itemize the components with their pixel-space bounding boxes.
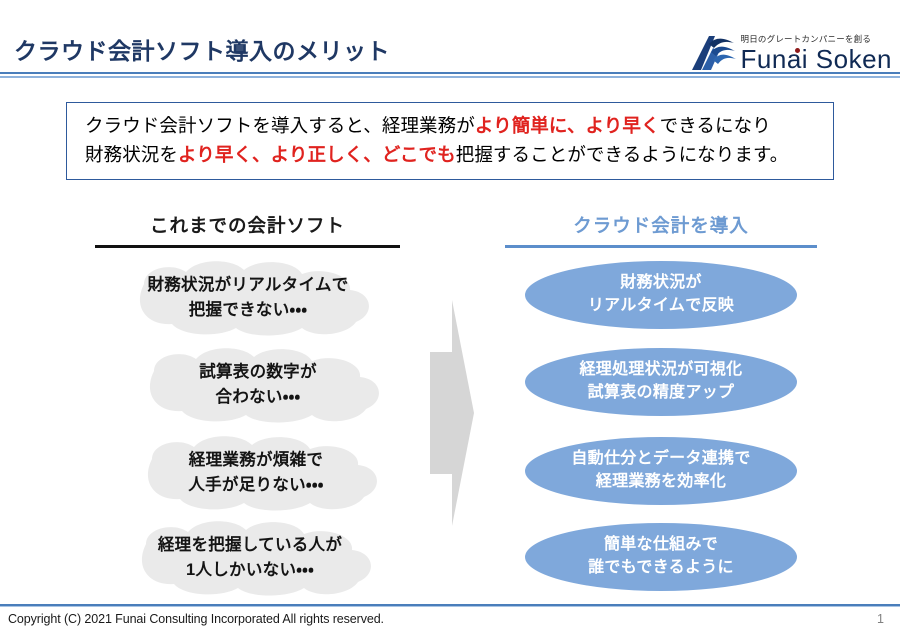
column-header-legacy: これまでの会計ソフト xyxy=(95,212,400,248)
benefit-line-2-highlight: リアルタイム xyxy=(588,297,685,314)
benefit-line-2: 経理業務を効率化 xyxy=(596,472,726,493)
brand-logo: 明日のグレートカンパニーを創る Funai Soken xyxy=(689,28,892,72)
page-title: クラウド会計ソフト導入のメリット xyxy=(14,32,390,66)
lead-line-2-part-a: 財務状況を xyxy=(85,144,178,165)
lead-line-1-part-c: できるになり xyxy=(660,115,771,136)
pain-point-line-1: 経理を把握している人が xyxy=(158,535,342,556)
header-divider xyxy=(0,72,900,78)
benefit-line-2-head: 経理業務を xyxy=(596,473,678,490)
lead-line-2: 財務状況をより早く、より正しく、どこでも把握することができるようになります。 xyxy=(85,141,815,170)
pain-point-text: 財務状況がリアルタイムで 把握できない・・・ xyxy=(98,258,398,338)
pain-point-text: 経理を把握している人が 1人しかいない・・・ xyxy=(100,518,400,598)
pain-point-line-1: 試算表の数字が xyxy=(199,362,317,383)
benefit-line-1: 自動仕分とデータ連携で xyxy=(571,449,750,470)
logo-wordmark-text: Funai Soken xyxy=(741,44,892,74)
benefit-line-1: 経理処理状況が可視化 xyxy=(579,360,742,381)
pain-point-line-2: 1人しかいない・・・ xyxy=(186,560,314,581)
benefit-ellipse: 自動仕分とデータ連携で 経理業務を効率化 xyxy=(525,437,797,505)
pain-point-bubble: 経理を把握している人が 1人しかいない・・・ xyxy=(100,518,400,598)
pain-point-line-1: 財務状況がリアルタイムで xyxy=(147,275,348,296)
benefit-ellipse: 財務状況が リアルタイムで反映 xyxy=(525,261,797,329)
lead-message-box: クラウド会計ソフトを導入すると、経理業務がより簡単に、より早くできるになり 財務… xyxy=(66,102,834,180)
pain-point-text: 経理業務が煩雑で 人手が足りない・・・ xyxy=(106,433,406,513)
benefit-ellipse: 簡単な仕組みで 誰でもできるように xyxy=(525,523,797,591)
pain-point-line-2: 把握できない・・・ xyxy=(189,300,308,321)
lead-line-1-part-a: クラウド会計ソフトを導入すると、経理業務が xyxy=(85,115,475,136)
column-header-cloud-rule xyxy=(505,245,817,248)
lead-line-2-highlight: より早く、より正しく、どこでも xyxy=(178,144,456,165)
benefit-line-2-tail: でもできるように xyxy=(604,559,733,576)
benefit-line-1: 簡単な仕組みで xyxy=(604,535,718,556)
benefit-line-2-highlight: 精度アップ xyxy=(653,384,735,401)
pain-point-line-1: 経理業務が煩雑で xyxy=(189,450,323,471)
benefit-line-2-highlight: 誰 xyxy=(588,559,604,576)
column-header-cloud-label: クラウド会計を導入 xyxy=(505,212,817,245)
logo-accent-dot-icon xyxy=(795,48,800,53)
pain-point-bubble: 試算表の数字が 合わない・・・ xyxy=(108,345,408,425)
lead-line-1-highlight: より簡単に、より早く xyxy=(475,115,660,136)
column-header-legacy-label: これまでの会計ソフト xyxy=(95,212,400,245)
lead-line-2-part-c: 把握することができるようになります。 xyxy=(456,144,789,165)
benefit-line-2-highlight: 効率化 xyxy=(677,473,726,490)
benefit-line-2: 試算表の精度アップ xyxy=(588,383,735,404)
footer-copyright: Copyright (C) 2021 Funai Consulting Inco… xyxy=(8,612,384,626)
pain-point-line-2: 合わない・・・ xyxy=(216,387,301,408)
pain-point-bubble: 財務状況がリアルタイムで 把握できない・・・ xyxy=(98,258,398,338)
benefit-line-2-head: 試算表の xyxy=(588,384,653,401)
slide-header: クラウド会計ソフト導入のメリット 明日のグレートカンパニーを創る Funai S… xyxy=(0,0,900,80)
benefit-line-2: 誰でもできるように xyxy=(588,558,734,579)
pain-point-line-2: 人手が足りない・・・ xyxy=(188,475,323,496)
benefit-line-2: リアルタイムで反映 xyxy=(588,296,734,317)
pain-point-bubble: 経理業務が煩雑で 人手が足りない・・・ xyxy=(106,433,406,513)
funai-soken-wave-mark-icon xyxy=(689,32,737,72)
benefit-line-2-tail: で反映 xyxy=(685,297,734,314)
column-header-legacy-rule xyxy=(95,245,400,248)
benefit-line-1: 財務状況が xyxy=(620,273,702,294)
benefit-ellipse: 経理処理状況が可視化 試算表の精度アップ xyxy=(525,348,797,416)
pain-point-text: 試算表の数字が 合わない・・・ xyxy=(108,345,408,425)
logo-wordmark: Funai Soken xyxy=(741,46,892,72)
footer-divider xyxy=(0,604,900,607)
column-header-cloud: クラウド会計を導入 xyxy=(505,212,817,248)
footer-page-number: 1 xyxy=(877,612,884,626)
right-block-arrow-icon xyxy=(424,300,476,526)
lead-line-1: クラウド会計ソフトを導入すると、経理業務がより簡単に、より早くできるになり xyxy=(85,112,815,141)
